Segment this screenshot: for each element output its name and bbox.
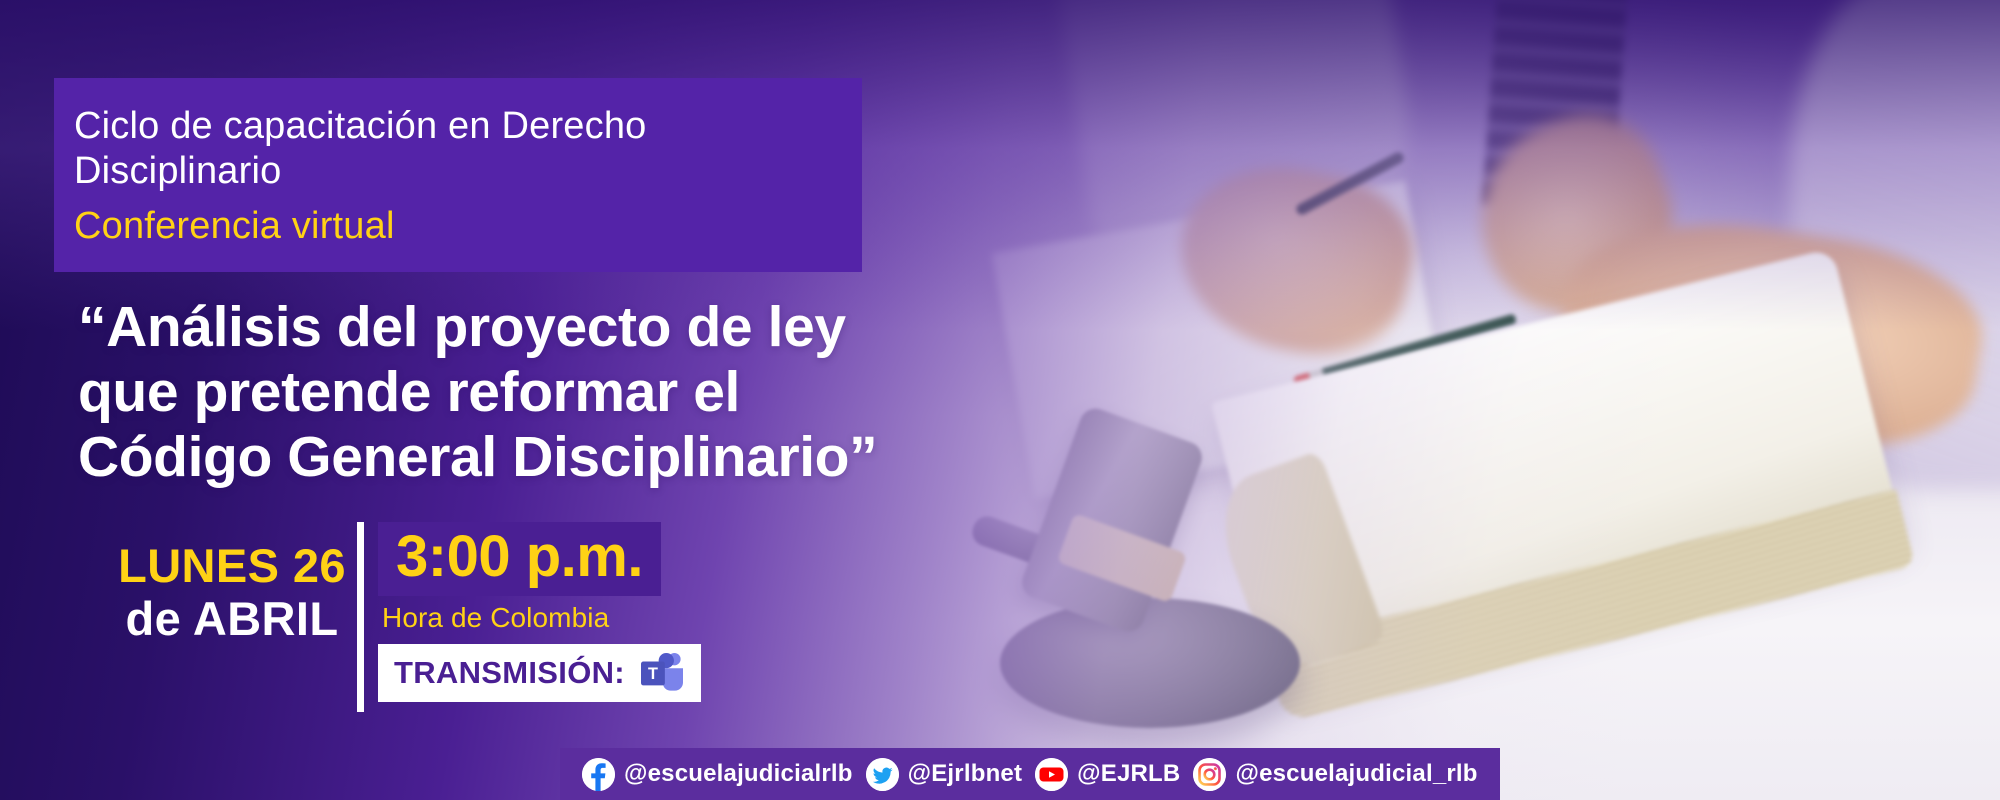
stream-badge: TRANSMISIÓN: T [378,644,701,702]
event-date-day: LUNES 26 [82,540,382,593]
event-type-label: Conferencia virtual [74,205,395,248]
instagram-handle: @escuelajudicial_rlb [1235,760,1477,788]
stream-label: TRANSMISIÓN: [394,655,625,691]
microsoft-teams-icon: T [639,652,685,694]
twitter-handle: @Ejrlbnet [908,760,1023,788]
instagram-icon [1193,758,1226,791]
social-link-instagram[interactable]: @escuelajudicial_rlb [1193,758,1477,791]
banner-content: Ciclo de capacitación en Derecho Discipl… [0,0,2000,800]
event-timezone: Hora de Colombia [382,602,758,634]
conference-headline: “Análisis del proyecto de ley que preten… [78,295,908,490]
youtube-icon [1035,758,1068,791]
event-time-chip: 3:00 p.m. [378,522,661,596]
facebook-icon [582,758,615,791]
event-date-month: de ABRIL [82,593,382,646]
vertical-divider [357,522,364,712]
social-link-twitter[interactable]: @Ejrlbnet [866,758,1023,791]
social-link-youtube[interactable]: @EJRLB [1035,758,1180,791]
twitter-icon [866,758,899,791]
youtube-handle: @EJRLB [1077,760,1180,788]
social-bar: @escuelajudicialrlb @Ejrlbnet [560,748,1500,800]
facebook-handle: @escuelajudicialrlb [624,760,853,788]
svg-text:T: T [648,665,658,683]
event-banner: Ciclo de capacitación en Derecho Discipl… [0,0,2000,800]
time-column: 3:00 p.m. Hora de Colombia TRANSMISIÓN: … [378,522,758,702]
program-title: Ciclo de capacitación en Derecho Discipl… [74,104,834,194]
social-link-facebook[interactable]: @escuelajudicialrlb [582,758,853,791]
event-date: LUNES 26 de ABRIL [82,540,382,645]
event-time: 3:00 p.m. [396,524,643,589]
